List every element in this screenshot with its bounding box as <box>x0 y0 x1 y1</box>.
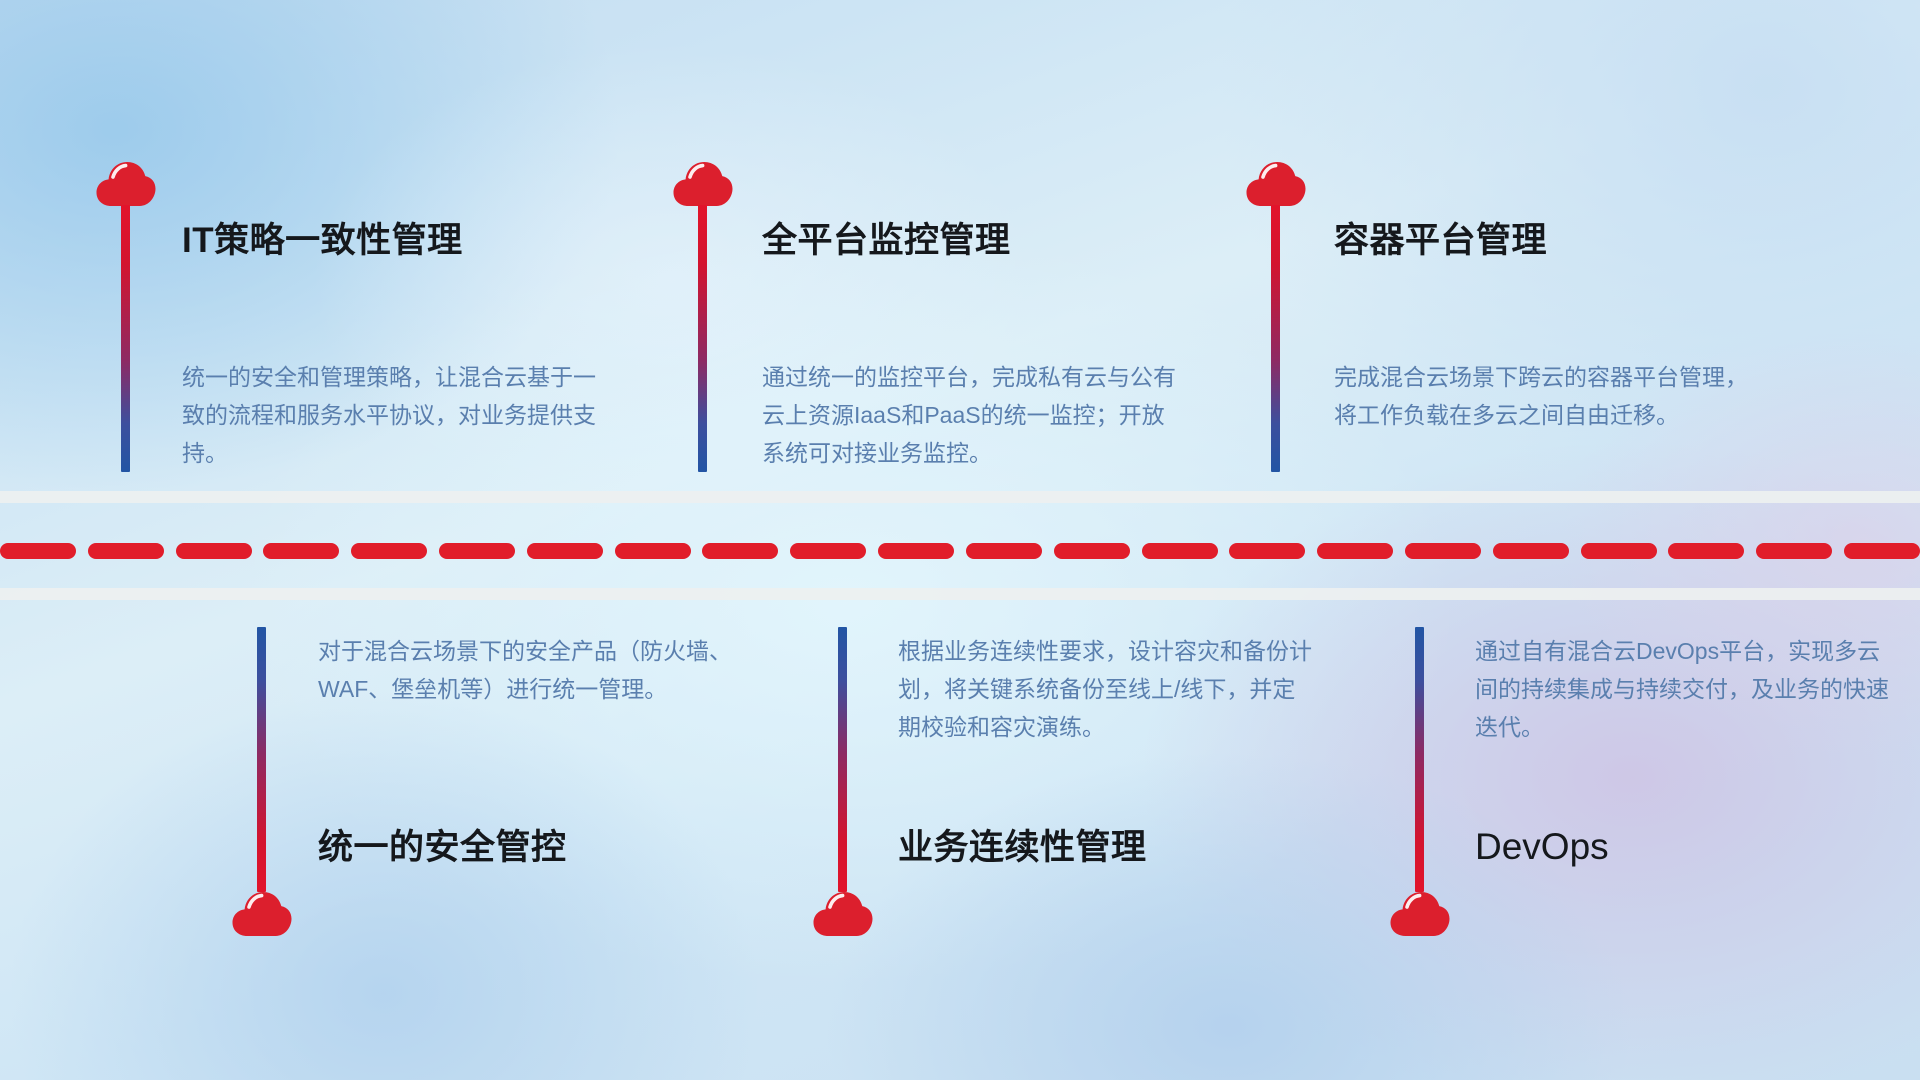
cloud-icon <box>231 890 293 938</box>
divider-dash <box>878 543 954 559</box>
divider-dash <box>1668 543 1744 559</box>
divider-dash <box>702 543 778 559</box>
card-body: 对于混合云场景下的安全产品（防火墙、WAF、堡垒机等）进行统一管理。 <box>318 632 738 708</box>
divider-dash <box>1581 543 1657 559</box>
divider-dash <box>966 543 1042 559</box>
accent-bar <box>698 205 707 472</box>
divider-dash <box>615 543 691 559</box>
divider-dash <box>1405 543 1481 559</box>
accent-bar <box>838 627 847 892</box>
cloud-icon <box>1245 160 1307 208</box>
card-body: 通过统一的监控平台，完成私有云与公有云上资源IaaS和PaaS的统一监控；开放系… <box>762 358 1182 472</box>
divider-dash <box>527 543 603 559</box>
divider-dash <box>263 543 339 559</box>
divider-dash <box>176 543 252 559</box>
divider-dash <box>1229 543 1305 559</box>
cloud-icon <box>95 160 157 208</box>
card-body: 通过自有混合云DevOps平台，实现多云间的持续集成与持续交付，及业务的快速迭代… <box>1475 632 1895 746</box>
divider-dash <box>1142 543 1218 559</box>
cloud-icon <box>812 890 874 938</box>
dashed-timeline-divider <box>0 543 1920 559</box>
accent-bar <box>1271 205 1280 472</box>
card-body: 完成混合云场景下跨云的容器平台管理，将工作负载在多云之间自由迁移。 <box>1334 358 1754 434</box>
accent-bar <box>1415 627 1424 892</box>
divider-dash <box>1317 543 1393 559</box>
card-title: 统一的安全管控 <box>318 830 567 865</box>
divider-rule-bottom <box>0 588 1920 600</box>
accent-bar <box>121 205 130 472</box>
card-title: 业务连续性管理 <box>898 830 1147 865</box>
divider-rule-top <box>0 491 1920 503</box>
divider-dash <box>0 543 76 559</box>
divider-dash <box>351 543 427 559</box>
cloud-icon <box>1389 890 1451 938</box>
card-title: 容器平台管理 <box>1334 223 1547 258</box>
cloud-icon <box>672 160 734 208</box>
divider-dash <box>790 543 866 559</box>
card-body: 根据业务连续性要求，设计容灾和备份计划，将关键系统备份至线上/线下，并定期校验和… <box>898 632 1318 746</box>
card-body: 统一的安全和管理策略，让混合云基于一致的流程和服务水平协议，对业务提供支持。 <box>182 358 602 472</box>
divider-dash <box>88 543 164 559</box>
card-title: DevOps <box>1475 828 1609 865</box>
accent-bar <box>257 627 266 892</box>
divider-dash <box>1054 543 1130 559</box>
card-title: 全平台监控管理 <box>762 223 1011 258</box>
divider-dash <box>439 543 515 559</box>
divider-dash <box>1756 543 1832 559</box>
divider-dash <box>1493 543 1569 559</box>
card-title: IT策略一致性管理 <box>182 223 463 258</box>
divider-dash <box>1844 543 1920 559</box>
